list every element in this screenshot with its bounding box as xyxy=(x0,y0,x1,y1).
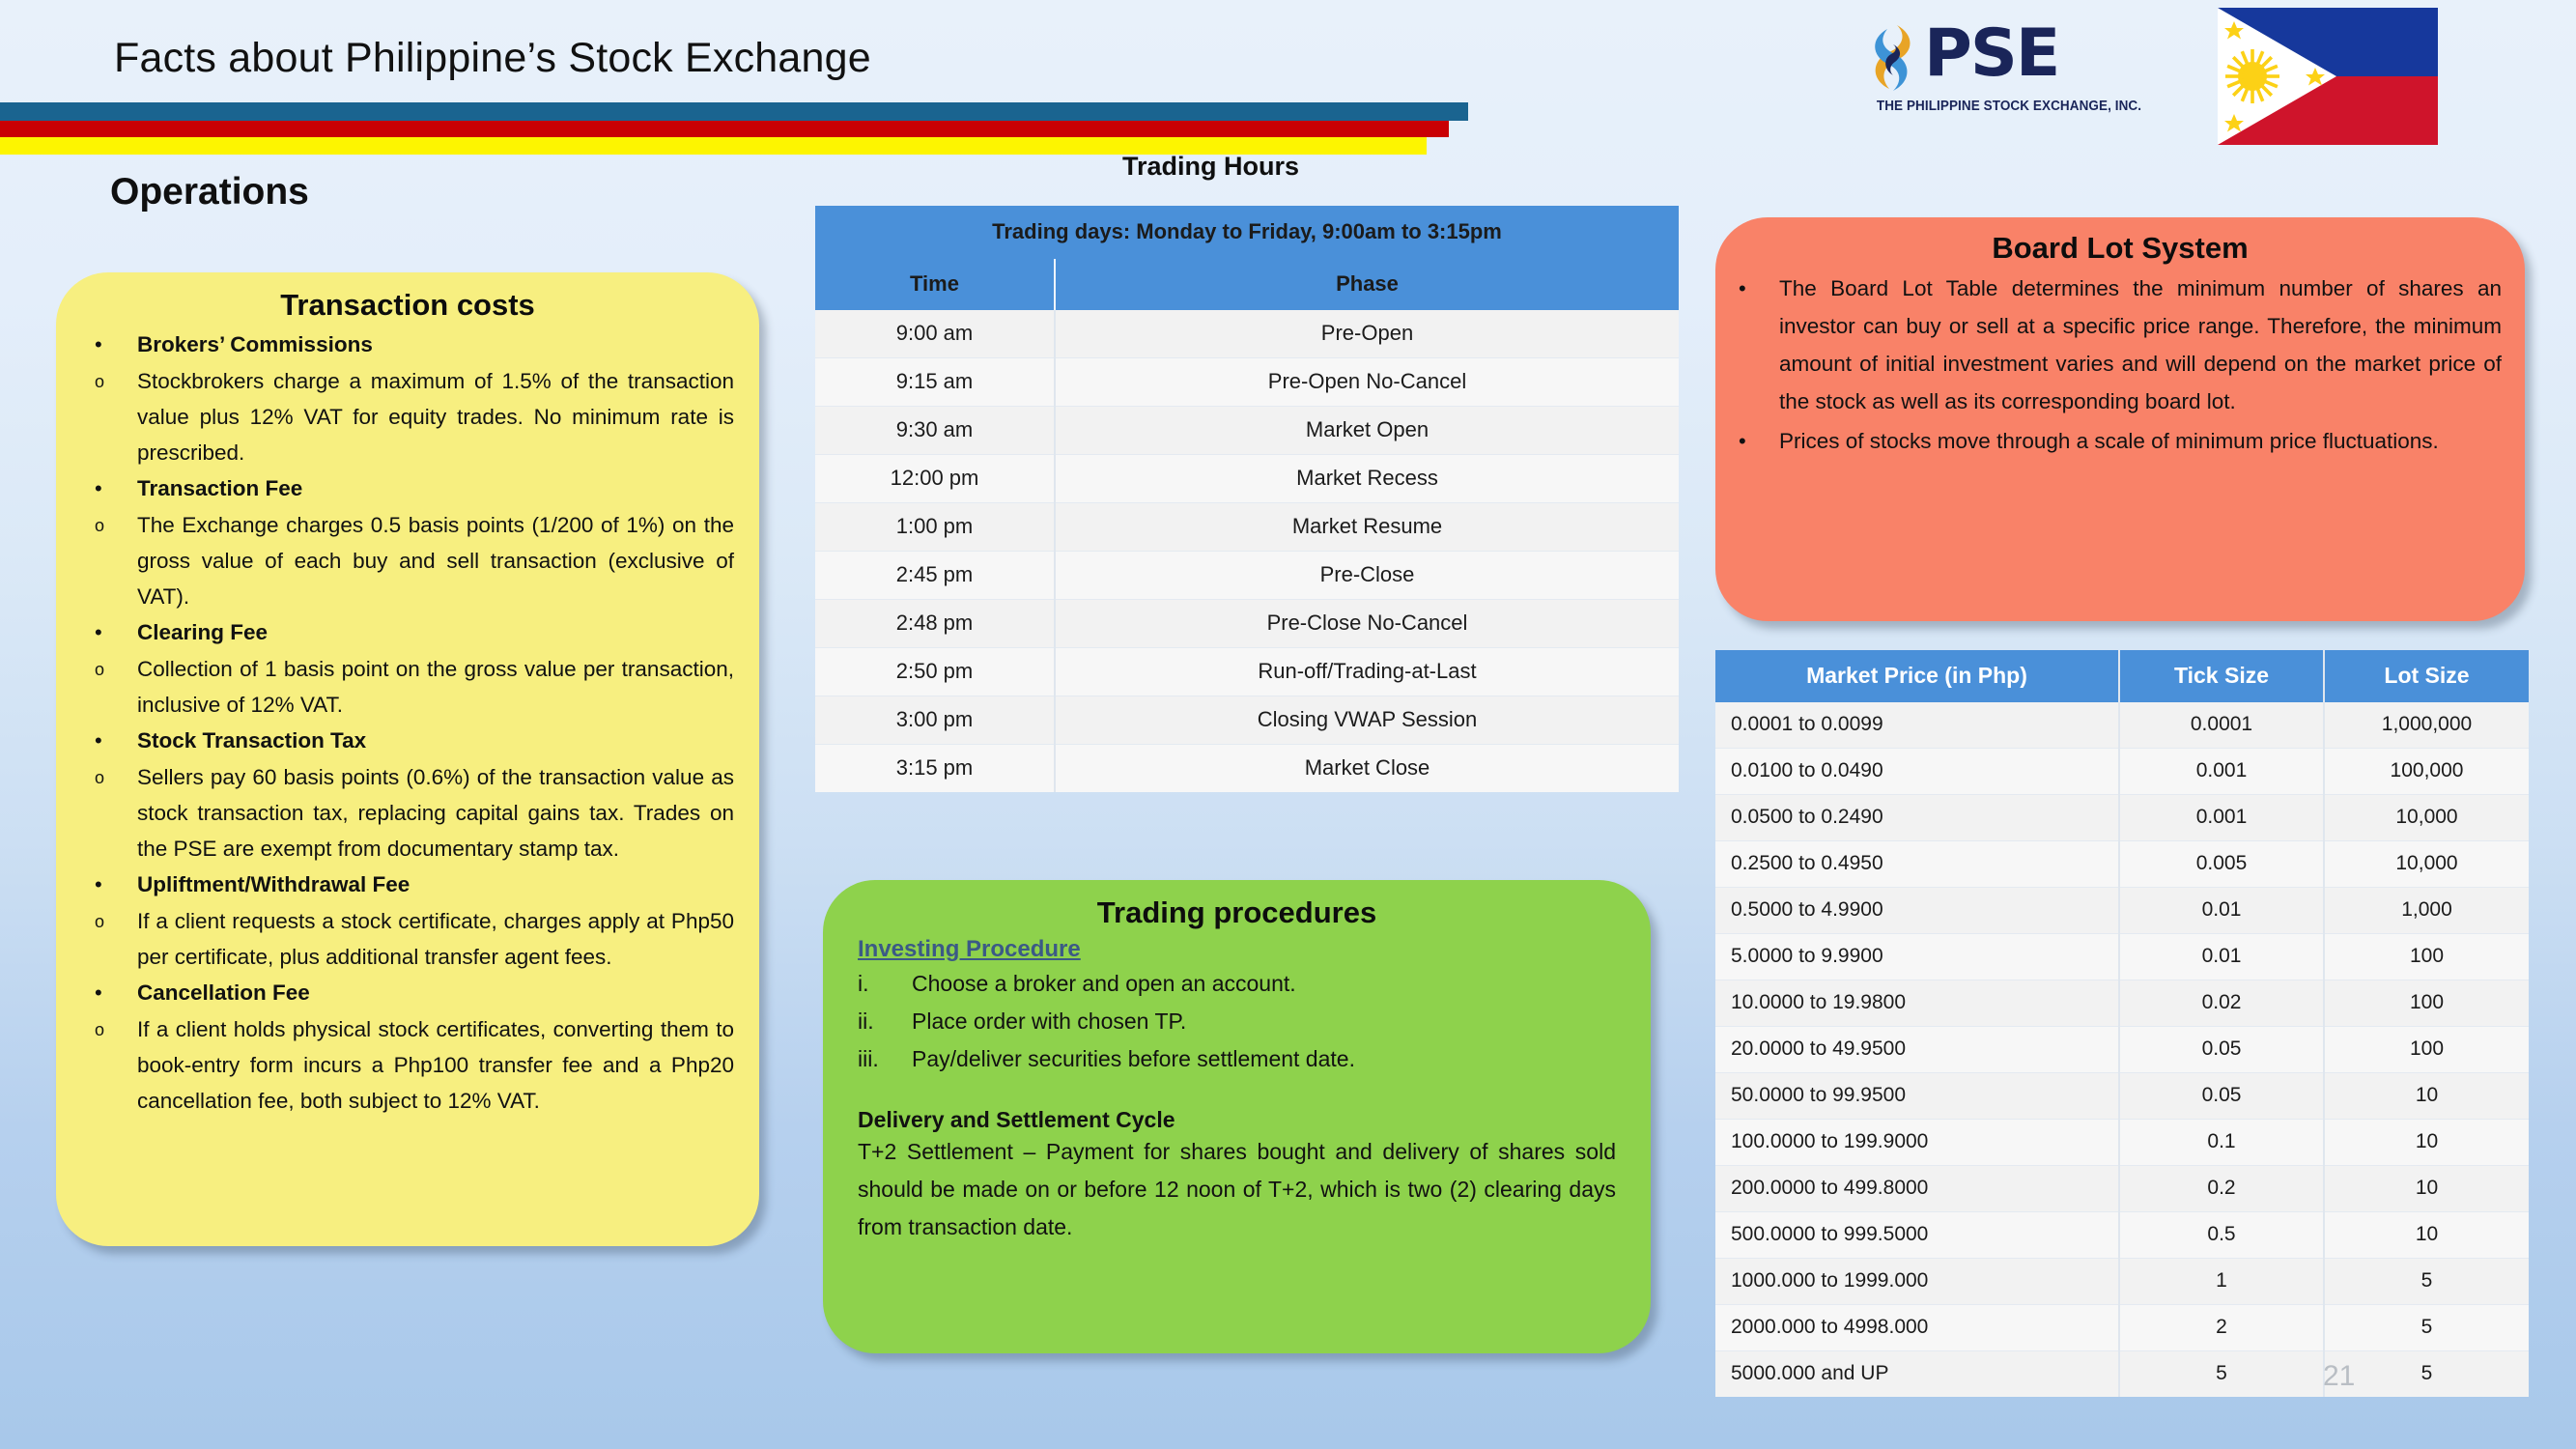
list-bullet-marker: • xyxy=(1739,422,1779,460)
table-row: 12:00 pmMarket Recess xyxy=(815,455,1679,503)
cell-market-price: 2000.000 to 4998.000 xyxy=(1715,1305,2119,1351)
pse-logo: PSE THE PHILIPPINE STOCK EXCHANGE, INC. xyxy=(1864,17,2154,124)
cell-market-price: 100.0000 to 199.9000 xyxy=(1715,1120,2119,1166)
cell-lot-size: 100 xyxy=(2324,1027,2529,1073)
settlement-heading: Delivery and Settlement Cycle xyxy=(858,1107,1616,1133)
cell-phase: Market Close xyxy=(1055,745,1679,793)
list-item: ii.Place order with chosen TP. xyxy=(858,1003,1616,1040)
cell-market-price: 500.0000 to 999.5000 xyxy=(1715,1212,2119,1259)
list-bullet-marker: • xyxy=(81,614,137,651)
cell-tick-size: 0.2 xyxy=(2119,1166,2324,1212)
list-item-text: Prices of stocks move through a scale of… xyxy=(1779,422,2502,460)
table-row: 0.0001 to 0.00990.00011,000,000 xyxy=(1715,702,2529,749)
list-bullet-marker: • xyxy=(81,723,137,759)
list-bullet-marker: o xyxy=(81,1011,137,1048)
list-bullet-marker: • xyxy=(81,867,137,903)
list-bullet-marker: o xyxy=(81,363,137,400)
cell-tick-size: 1 xyxy=(2119,1259,2324,1305)
list-item: iii.Pay/deliver securities before settle… xyxy=(858,1040,1616,1078)
cell-market-price: 5.0000 to 9.9900 xyxy=(1715,934,2119,980)
cell-lot-size: 10 xyxy=(2324,1166,2529,1212)
cell-lot-size: 100 xyxy=(2324,934,2529,980)
list-item-text: Choose a broker and open an account. xyxy=(912,965,1616,1003)
cell-lot-size: 10 xyxy=(2324,1120,2529,1166)
table-row: 200.0000 to 499.80000.210 xyxy=(1715,1166,2529,1212)
header-rule-teal xyxy=(0,102,1468,121)
column-header-time: Time xyxy=(815,259,1055,310)
table-row: 10.0000 to 19.98000.02100 xyxy=(1715,980,2529,1027)
cell-market-price: 20.0000 to 49.9500 xyxy=(1715,1027,2119,1073)
list-item-text: If a client holds physical stock certifi… xyxy=(137,1011,734,1119)
cell-time: 9:30 am xyxy=(815,407,1055,455)
list-item: oSellers pay 60 basis points (0.6%) of t… xyxy=(81,759,734,867)
list-item: oIf a client requests a stock certificat… xyxy=(81,903,734,975)
table-row: 0.2500 to 0.49500.00510,000 xyxy=(1715,841,2529,888)
cell-phase: Run-off/Trading-at-Last xyxy=(1055,648,1679,696)
header-rule-red xyxy=(0,121,1449,137)
list-item-text: The Board Lot Table determines the minim… xyxy=(1779,270,2502,420)
cell-tick-size: 2 xyxy=(2119,1305,2324,1351)
cell-market-price: 5000.000 and UP xyxy=(1715,1351,2119,1398)
trading-days-banner: Trading days: Monday to Friday, 9:00am t… xyxy=(815,206,1679,259)
list-item-text: Place order with chosen TP. xyxy=(912,1003,1616,1040)
board-lot-bullets: •The Board Lot Table determines the mini… xyxy=(1739,270,2502,460)
cell-tick-size: 0.001 xyxy=(2119,795,2324,841)
list-bullet-marker: • xyxy=(81,975,137,1011)
cell-lot-size: 1,000 xyxy=(2324,888,2529,934)
settlement-body: T+2 Settlement – Payment for shares boug… xyxy=(858,1133,1616,1246)
cell-market-price: 0.0500 to 0.2490 xyxy=(1715,795,2119,841)
board-lot-table-wrapper: Market Price (in Php) Tick Size Lot Size… xyxy=(1715,650,2529,1397)
cell-tick-size: 0.0001 xyxy=(2119,702,2324,749)
table-row: 0.0500 to 0.24900.00110,000 xyxy=(1715,795,2529,841)
list-bullet-marker: • xyxy=(81,327,137,363)
column-header-tick-size: Tick Size xyxy=(2119,650,2324,702)
transaction-costs-title: Transaction costs xyxy=(81,288,734,323)
table-row: 2:50 pmRun-off/Trading-at-Last xyxy=(815,648,1679,696)
table-row: 20.0000 to 49.95000.05100 xyxy=(1715,1027,2529,1073)
cell-time: 3:00 pm xyxy=(815,696,1055,745)
table-row: 1:00 pmMarket Resume xyxy=(815,503,1679,552)
column-header-phase: Phase xyxy=(1055,259,1679,310)
table-row: 5000.000 and UP55 xyxy=(1715,1351,2529,1398)
cell-lot-size: 10 xyxy=(2324,1212,2529,1259)
cell-time: 9:15 am xyxy=(815,358,1055,407)
cell-phase: Pre-Close No-Cancel xyxy=(1055,600,1679,648)
list-bullet-marker: • xyxy=(1739,270,1779,307)
table-row: 1000.000 to 1999.00015 xyxy=(1715,1259,2529,1305)
pse-tagline: THE PHILIPPINE STOCK EXCHANGE, INC. xyxy=(1875,99,2144,114)
cell-time: 2:45 pm xyxy=(815,552,1055,600)
trading-procedures-title: Trading procedures xyxy=(858,895,1616,930)
cell-phase: Market Resume xyxy=(1055,503,1679,552)
cell-phase: Pre-Open xyxy=(1055,310,1679,358)
list-item-text: Brokers’ Commissions xyxy=(137,327,734,362)
cell-market-price: 200.0000 to 499.8000 xyxy=(1715,1166,2119,1212)
table-row: 0.5000 to 4.99000.011,000 xyxy=(1715,888,2529,934)
table-row: 9:00 amPre-Open xyxy=(815,310,1679,358)
investing-procedure-steps: i.Choose a broker and open an account.ii… xyxy=(858,965,1616,1078)
cell-market-price: 1000.000 to 1999.000 xyxy=(1715,1259,2119,1305)
list-item-text: If a client requests a stock certificate… xyxy=(137,903,734,975)
list-item: •Cancellation Fee xyxy=(81,975,734,1011)
table-row: 2000.000 to 4998.00025 xyxy=(1715,1305,2529,1351)
table-row: 500.0000 to 999.50000.510 xyxy=(1715,1212,2529,1259)
list-bullet-marker: o xyxy=(81,903,137,940)
list-item-text: Sellers pay 60 basis points (0.6%) of th… xyxy=(137,759,734,867)
cell-phase: Market Recess xyxy=(1055,455,1679,503)
list-item: •Transaction Fee xyxy=(81,470,734,507)
cell-lot-size: 100 xyxy=(2324,980,2529,1027)
cell-lot-size: 10 xyxy=(2324,1073,2529,1120)
column-header-market-price: Market Price (in Php) xyxy=(1715,650,2119,702)
list-item-text: Pay/deliver securities before settlement… xyxy=(912,1040,1616,1078)
table-row: 9:30 amMarket Open xyxy=(815,407,1679,455)
philippines-flag-icon xyxy=(2218,8,2438,145)
cell-market-price: 10.0000 to 19.9800 xyxy=(1715,980,2119,1027)
cell-tick-size: 0.01 xyxy=(2119,934,2324,980)
page-number: 21 xyxy=(2323,1360,2355,1393)
cell-time: 1:00 pm xyxy=(815,503,1055,552)
table-row: 9:15 amPre-Open No-Cancel xyxy=(815,358,1679,407)
list-bullet-marker: • xyxy=(81,470,137,507)
cell-time: 9:00 am xyxy=(815,310,1055,358)
cell-time: 2:48 pm xyxy=(815,600,1055,648)
cell-time: 3:15 pm xyxy=(815,745,1055,793)
cell-time: 12:00 pm xyxy=(815,455,1055,503)
cell-time: 2:50 pm xyxy=(815,648,1055,696)
table-row: 2:48 pmPre-Close No-Cancel xyxy=(815,600,1679,648)
list-item: •The Board Lot Table determines the mini… xyxy=(1739,270,2502,420)
cell-tick-size: 0.02 xyxy=(2119,980,2324,1027)
cell-phase: Pre-Close xyxy=(1055,552,1679,600)
cell-lot-size: 10,000 xyxy=(2324,795,2529,841)
cell-lot-size: 5 xyxy=(2324,1305,2529,1351)
table-row: 2:45 pmPre-Close xyxy=(815,552,1679,600)
list-item-text: Cancellation Fee xyxy=(137,975,734,1010)
list-item-text: The Exchange charges 0.5 basis points (1… xyxy=(137,507,734,614)
cell-market-price: 50.0000 to 99.9500 xyxy=(1715,1073,2119,1120)
cell-tick-size: 0.001 xyxy=(2119,749,2324,795)
board-lot-table: Market Price (in Php) Tick Size Lot Size… xyxy=(1715,650,2529,1397)
table-row: 100.0000 to 199.90000.110 xyxy=(1715,1120,2529,1166)
list-item-text: Upliftment/Withdrawal Fee xyxy=(137,867,734,902)
board-lot-title: Board Lot System xyxy=(1739,231,2502,266)
list-item: •Upliftment/Withdrawal Fee xyxy=(81,867,734,903)
list-item-marker: i. xyxy=(858,965,912,1003)
list-item: •Stock Transaction Tax xyxy=(81,723,734,759)
table-row: 50.0000 to 99.95000.0510 xyxy=(1715,1073,2529,1120)
cell-lot-size: 5 xyxy=(2324,1259,2529,1305)
list-bullet-marker: o xyxy=(81,759,137,796)
list-bullet-marker: o xyxy=(81,507,137,544)
list-item-marker: iii. xyxy=(858,1040,912,1078)
pse-wordmark: PSE xyxy=(1924,17,2058,91)
pse-ribbon-icon xyxy=(1864,23,1922,93)
cell-phase: Market Open xyxy=(1055,407,1679,455)
list-item: oThe Exchange charges 0.5 basis points (… xyxy=(81,507,734,614)
cell-phase: Pre-Open No-Cancel xyxy=(1055,358,1679,407)
cell-tick-size: 0.01 xyxy=(2119,888,2324,934)
list-item-marker: ii. xyxy=(858,1003,912,1040)
cell-lot-size: 100,000 xyxy=(2324,749,2529,795)
cell-tick-size: 5 xyxy=(2119,1351,2324,1398)
table-row: 0.0100 to 0.04900.001100,000 xyxy=(1715,749,2529,795)
board-lot-panel: Board Lot System •The Board Lot Table de… xyxy=(1715,217,2525,621)
cell-tick-size: 0.005 xyxy=(2119,841,2324,888)
transaction-costs-list: •Brokers’ CommissionsoStockbrokers charg… xyxy=(81,327,734,1119)
table-row: 3:15 pmMarket Close xyxy=(815,745,1679,793)
trading-hours-heading: Trading Hours xyxy=(1122,152,1299,182)
list-item: oIf a client holds physical stock certif… xyxy=(81,1011,734,1119)
trading-procedures-panel: Trading procedures Investing Procedure i… xyxy=(823,880,1651,1353)
list-item-text: Stockbrokers charge a maximum of 1.5% of… xyxy=(137,363,734,470)
section-heading-operations: Operations xyxy=(110,171,309,213)
column-header-lot-size: Lot Size xyxy=(2324,650,2529,702)
cell-tick-size: 0.05 xyxy=(2119,1073,2324,1120)
list-item: •Clearing Fee xyxy=(81,614,734,651)
page-title: Facts about Philippine’s Stock Exchange xyxy=(114,35,871,82)
transaction-costs-panel: Transaction costs •Brokers’ Commissionso… xyxy=(56,272,759,1246)
list-item: i.Choose a broker and open an account. xyxy=(858,965,1616,1003)
list-item: oStockbrokers charge a maximum of 1.5% o… xyxy=(81,363,734,470)
cell-tick-size: 0.1 xyxy=(2119,1120,2324,1166)
cell-phase: Closing VWAP Session xyxy=(1055,696,1679,745)
list-item-text: Transaction Fee xyxy=(137,470,734,506)
table-row: 3:00 pmClosing VWAP Session xyxy=(815,696,1679,745)
trading-hours-table: Trading days: Monday to Friday, 9:00am t… xyxy=(815,206,1679,792)
list-item: •Brokers’ Commissions xyxy=(81,327,734,363)
list-item-text: Clearing Fee xyxy=(137,614,734,650)
cell-lot-size: 1,000,000 xyxy=(2324,702,2529,749)
cell-market-price: 0.2500 to 0.4950 xyxy=(1715,841,2119,888)
list-item-text: Collection of 1 basis point on the gross… xyxy=(137,651,734,723)
investing-procedure-label: Investing Procedure xyxy=(858,936,1616,963)
list-item: oCollection of 1 basis point on the gros… xyxy=(81,651,734,723)
cell-tick-size: 0.05 xyxy=(2119,1027,2324,1073)
list-bullet-marker: o xyxy=(81,651,137,688)
cell-market-price: 0.0001 to 0.0099 xyxy=(1715,702,2119,749)
table-row: 5.0000 to 9.99000.01100 xyxy=(1715,934,2529,980)
cell-market-price: 0.5000 to 4.9900 xyxy=(1715,888,2119,934)
cell-lot-size: 10,000 xyxy=(2324,841,2529,888)
list-item-text: Stock Transaction Tax xyxy=(137,723,734,758)
list-item: •Prices of stocks move through a scale o… xyxy=(1739,422,2502,460)
cell-market-price: 0.0100 to 0.0490 xyxy=(1715,749,2119,795)
cell-tick-size: 0.5 xyxy=(2119,1212,2324,1259)
trading-hours-table-wrapper: Trading days: Monday to Friday, 9:00am t… xyxy=(815,206,1679,792)
